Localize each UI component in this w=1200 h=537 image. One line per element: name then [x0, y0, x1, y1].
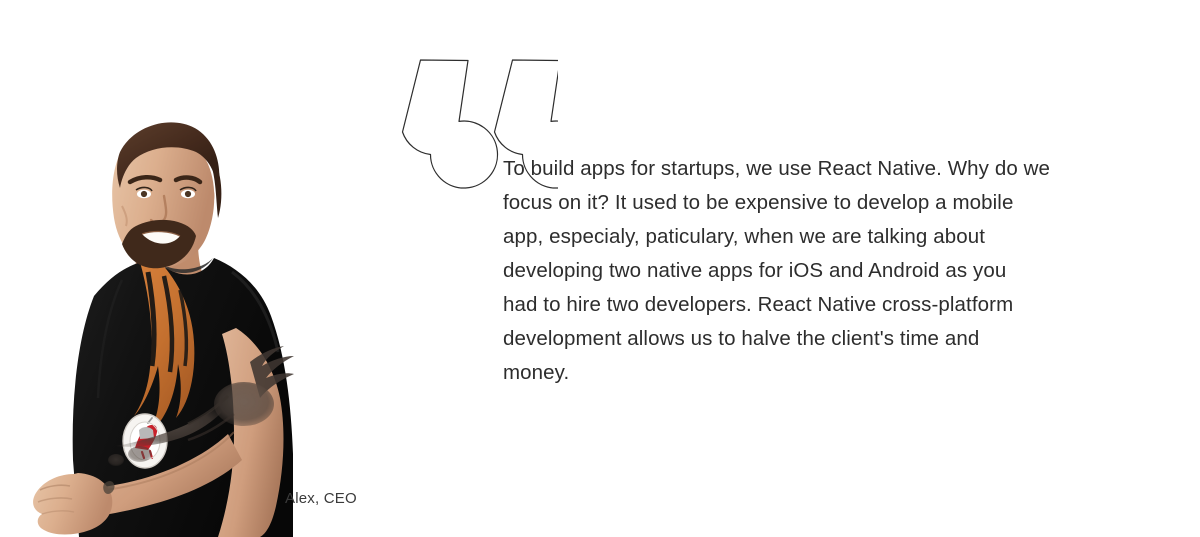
quote-line: developing two native apps for iOS and A… — [503, 254, 1129, 288]
quote-line: To build apps for startups, we use React… — [503, 152, 1129, 186]
quote-line: app, especialy, paticulary, when we are … — [503, 220, 1129, 254]
head — [112, 122, 221, 268]
quote-glyph-left — [403, 60, 498, 188]
quote-text: To build apps for startups, we use React… — [503, 152, 1129, 390]
quote-line: focus on it? It used to be expensive to … — [503, 186, 1129, 220]
portrait-photo — [22, 66, 302, 537]
testimonial-slide: To build apps for startups, we use React… — [0, 0, 1200, 537]
attribution: Alex, CEO — [285, 489, 357, 509]
quote-line: money. — [503, 356, 1129, 390]
quote-line: had to hire two developers. React Native… — [503, 288, 1129, 322]
quote-line: development allows us to halve the clien… — [503, 322, 1129, 356]
